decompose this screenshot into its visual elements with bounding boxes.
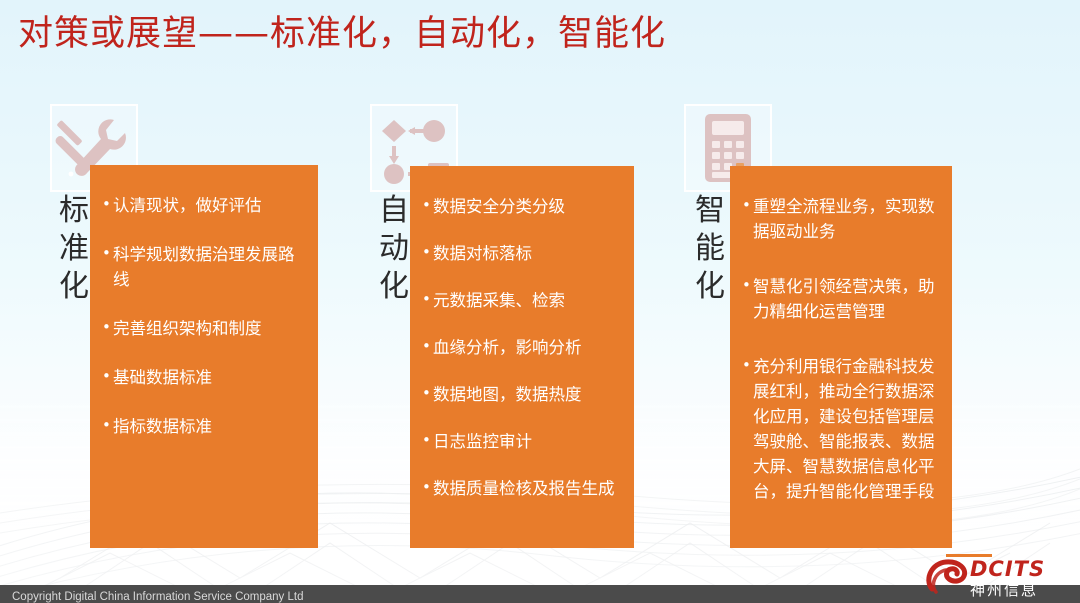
- list-item: 认清现状，做好评估: [102, 193, 304, 218]
- slide-canvas: 对策或展望——标准化，自动化，智能化 标 准 化 认清现状，做好评估: [0, 0, 1080, 603]
- dcits-logo-mark: [926, 559, 968, 595]
- list-item: 基础数据标准: [102, 365, 304, 390]
- list-item: 血缘分析，影响分析: [422, 335, 620, 360]
- list-item: 数据对标落标: [422, 241, 620, 266]
- dcits-logo-text: DCITS: [970, 557, 1045, 581]
- list-item: 指标数据标准: [102, 414, 304, 439]
- column-label-intelligence: 智 能 化: [688, 192, 732, 306]
- column-intelligence: 智 能 化 重塑全流程业务，实现数据驱动业务 智慧化引领经营决策，助力精细化运营…: [630, 0, 970, 603]
- panel-automation: 数据安全分类分级 数据对标落标 元数据采集、检索 血缘分析，影响分析 数据地图，…: [410, 166, 634, 548]
- list-item: 数据地图，数据热度: [422, 382, 620, 407]
- panel-intelligence: 重塑全流程业务，实现数据驱动业务 智慧化引领经营决策，助力精细化运营管理 充分利…: [730, 166, 952, 548]
- panel-standardization: 认清现状，做好评估 科学规划数据治理发展路线 完善组织架构和制度 基础数据标准 …: [90, 165, 318, 548]
- label-char: 能: [688, 230, 732, 268]
- bullet-list-automation: 数据安全分类分级 数据对标落标 元数据采集、检索 血缘分析，影响分析 数据地图，…: [422, 194, 620, 501]
- label-char: 化: [688, 268, 732, 306]
- dcits-logo-subtext: 神州信息: [970, 579, 1038, 600]
- list-item: 数据安全分类分级: [422, 194, 620, 219]
- bullet-list-standardization: 认清现状，做好评估 科学规划数据治理发展路线 完善组织架构和制度 基础数据标准 …: [102, 193, 304, 439]
- list-item: 完善组织架构和制度: [102, 316, 304, 341]
- list-item: 元数据采集、检索: [422, 288, 620, 313]
- list-item: 科学规划数据治理发展路线: [102, 242, 304, 292]
- list-item: 智慧化引领经营决策，助力精细化运营管理: [742, 274, 938, 324]
- column-standardization: 标 准 化 认清现状，做好评估 科学规划数据治理发展路线 完善组织架构和制度 基…: [0, 0, 340, 603]
- column-automation: 自 动 化 数据安全分类分级 数据对标落标 元数据采集、检索 血缘分析，影响分析…: [320, 0, 660, 603]
- list-item: 充分利用银行金融科技发展红利，推动全行数据深化应用，建设包括管理层驾驶舱、智能报…: [742, 354, 938, 504]
- label-char: 智: [688, 192, 732, 230]
- bullet-list-intelligence: 重塑全流程业务，实现数据驱动业务 智慧化引领经营决策，助力精细化运营管理 充分利…: [742, 194, 938, 504]
- dcits-logo: DCITS 神州信息: [926, 553, 1072, 601]
- list-item: 日志监控审计: [422, 429, 620, 454]
- list-item: 数据质量检核及报告生成: [422, 476, 620, 501]
- list-item: 重塑全流程业务，实现数据驱动业务: [742, 194, 938, 244]
- copyright-text: Copyright Digital China Information Serv…: [12, 591, 303, 603]
